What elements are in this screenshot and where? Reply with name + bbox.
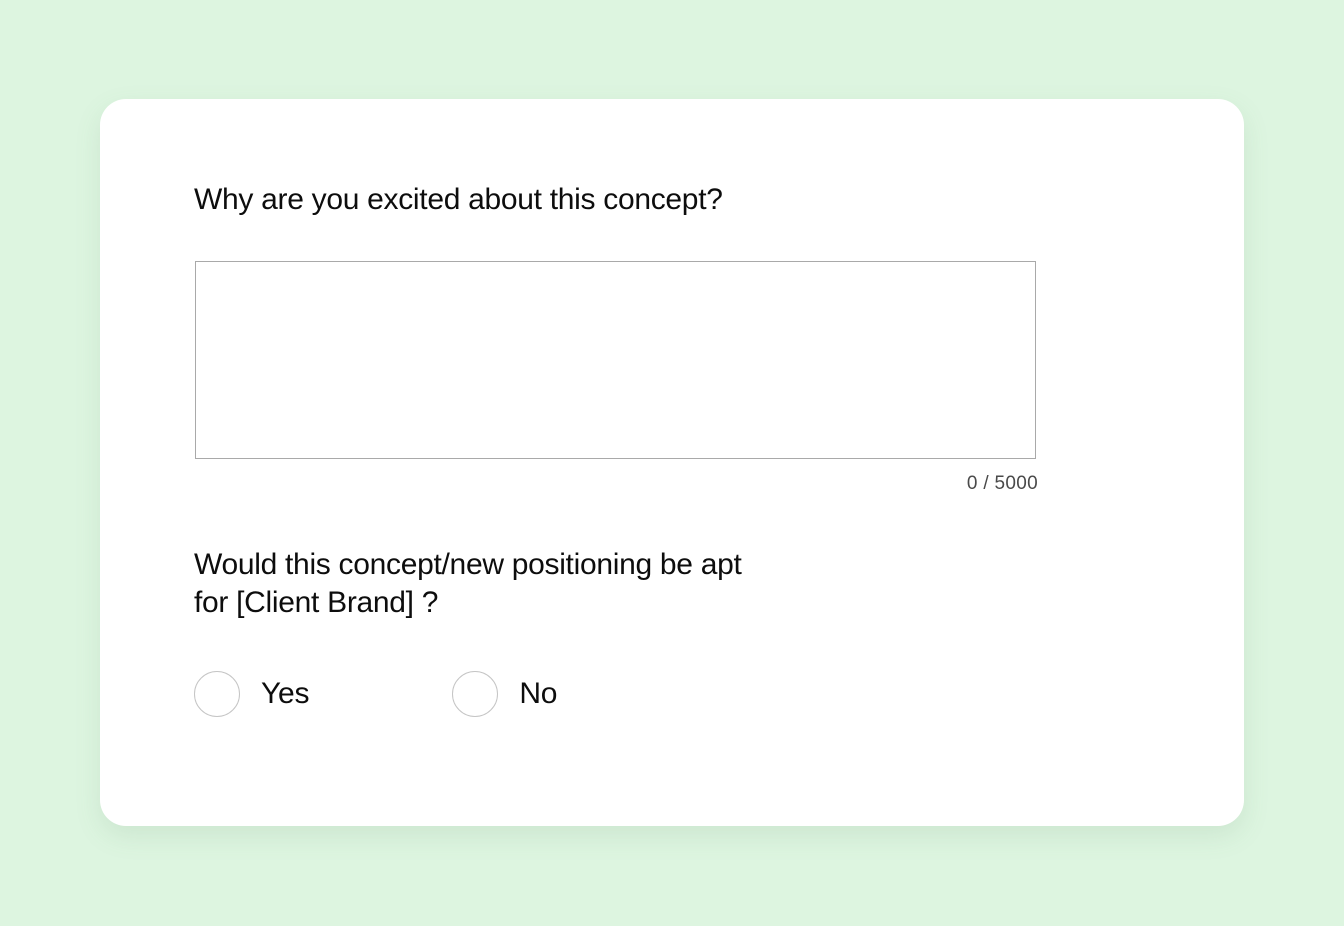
radio-option-yes[interactable]: Yes	[194, 671, 309, 717]
radio-circle-icon-no[interactable]	[452, 671, 498, 717]
question-1-label: Why are you excited about this concept?	[194, 181, 723, 219]
radio-option-no[interactable]: No	[452, 671, 557, 717]
excitement-textarea[interactable]	[195, 261, 1036, 459]
survey-card: Why are you excited about this concept? …	[100, 99, 1244, 826]
survey-card-content: Why are you excited about this concept? …	[100, 99, 1244, 826]
radio-circle-icon-yes[interactable]	[194, 671, 240, 717]
radio-label-yes: Yes	[261, 679, 309, 709]
character-counter: 0 / 5000	[195, 473, 1038, 495]
question-2-label: Would this concept/new positioning be ap…	[194, 546, 954, 622]
radio-label-no: No	[519, 679, 557, 709]
survey-page: Why are you excited about this concept? …	[0, 0, 1344, 926]
yes-no-radio-group: Yes No	[194, 671, 557, 717]
